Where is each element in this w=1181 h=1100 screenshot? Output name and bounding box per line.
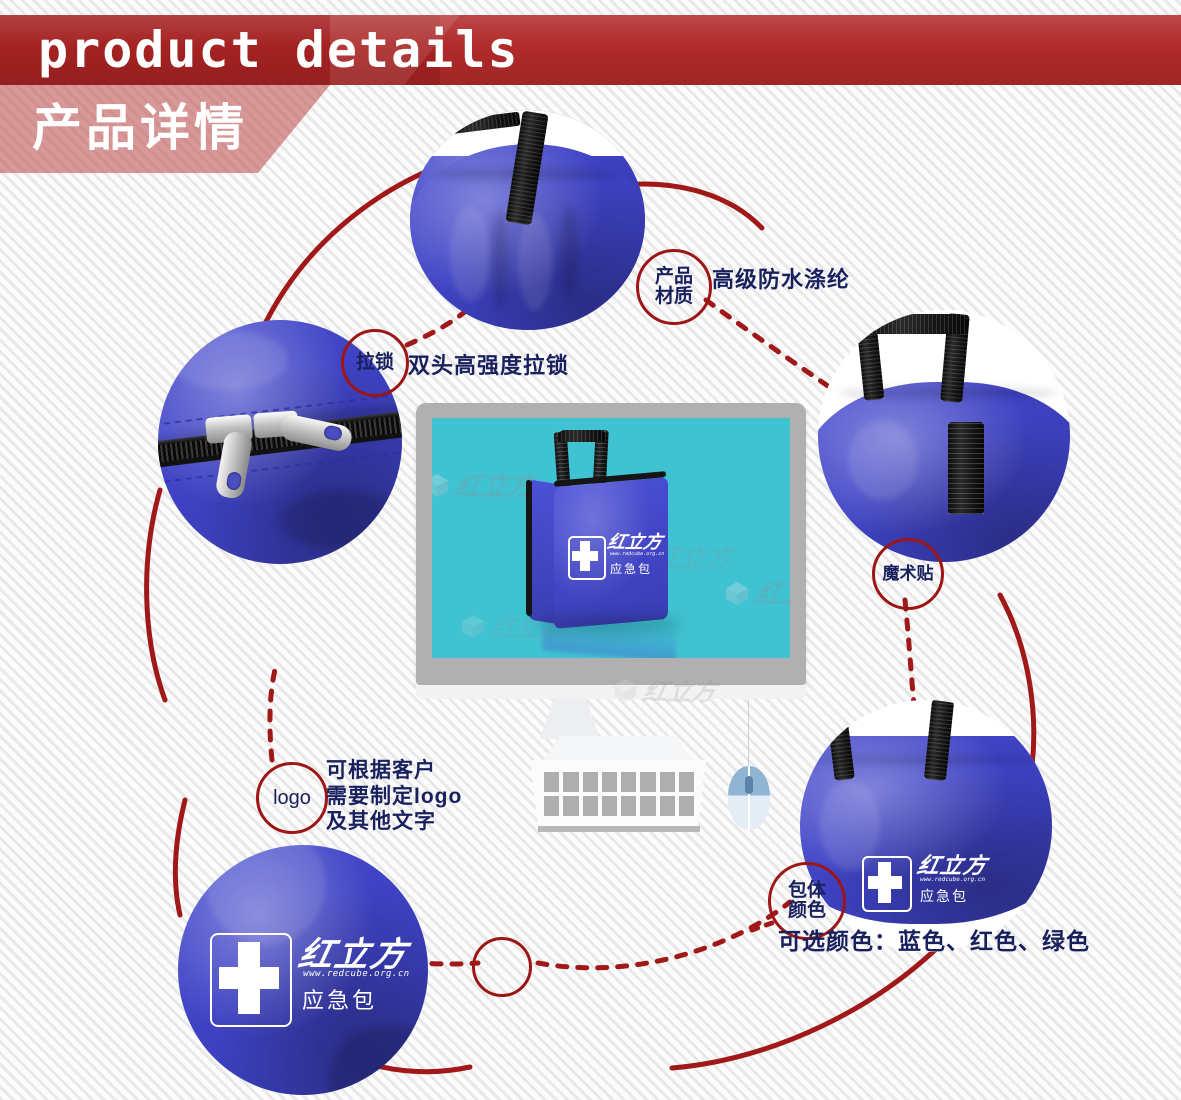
key xyxy=(621,796,636,816)
callout-text-logo-line1: 可根据客户 xyxy=(326,758,462,784)
brand-product-name: 应急包 xyxy=(302,983,377,1015)
mouse-scroll-wheel[interactable] xyxy=(745,776,753,794)
key xyxy=(621,772,636,792)
cube-logo-icon xyxy=(460,613,486,639)
key xyxy=(602,796,617,816)
key xyxy=(563,796,578,816)
photo-velcro-detail xyxy=(818,310,1070,562)
key xyxy=(660,796,675,816)
callout-ring-material[interactable]: 产品 材质 xyxy=(636,249,712,325)
callout-ring-logo[interactable]: logo xyxy=(256,762,328,834)
product-bag-zipper xyxy=(526,480,532,617)
key xyxy=(544,772,559,792)
monitor-screen: 红立方 红立方 红立方 红立方 xyxy=(432,418,790,658)
page-title-en: product details xyxy=(38,20,520,80)
handle-top-bar xyxy=(864,314,968,334)
key xyxy=(583,772,598,792)
callout-text-zipper: 双头高强度拉锁 xyxy=(408,348,569,380)
decorative-ring xyxy=(472,937,532,997)
callout-ring-logo-label: logo xyxy=(273,788,311,809)
velcro-strip xyxy=(948,422,984,514)
photo-logo-detail: 红立方 www.redcube.org.cn 应急包 xyxy=(178,845,428,1095)
product-brand-sub: 应急包 xyxy=(610,560,652,577)
watermark-screen-3: 红立方 xyxy=(724,574,790,611)
callout-text-logo: 可根据客户 需要制定logo 及其他文字 xyxy=(326,758,462,835)
key xyxy=(660,772,675,792)
page-background: product details 产品详情 xyxy=(0,0,1181,1100)
callout-ring-zipper-label: 拉锁 xyxy=(356,353,394,373)
callout-ring-body-color-line2: 颜色 xyxy=(788,901,826,921)
callout-text-material: 高级防水涤纶 xyxy=(712,262,850,294)
brand-url: www.redcube.org.cn xyxy=(302,969,410,979)
cube-logo-icon xyxy=(432,472,450,498)
brand-product-name-small: 应急包 xyxy=(920,886,968,906)
callout-ring-body-color-line1: 包体 xyxy=(788,881,826,901)
watermark-text: 红立方 xyxy=(752,574,790,611)
key xyxy=(679,796,694,816)
callout-ring-velcro[interactable]: 魔术贴 xyxy=(872,538,944,610)
product-brand-url: www.redcube.org.cn xyxy=(609,551,664,557)
key xyxy=(563,772,578,792)
callout-ring-zipper[interactable]: 拉锁 xyxy=(341,329,409,397)
monitor-neck xyxy=(540,699,600,739)
page-title-cn: 产品详情 xyxy=(32,92,248,164)
key xyxy=(679,772,694,792)
callout-ring-velcro-label: 魔术贴 xyxy=(883,565,934,583)
brand-url-small: www.redcube.org.cn xyxy=(919,876,985,883)
product-handle-arc xyxy=(557,430,607,442)
key xyxy=(640,796,655,816)
key xyxy=(583,796,598,816)
keyboard-keys xyxy=(544,772,694,816)
keyboard-riser xyxy=(542,736,694,762)
product-bag-image: 红立方 www.redcube.org.cn 应急包 xyxy=(502,424,732,654)
monitor-base xyxy=(416,685,806,699)
callout-text-logo-line2: 需要制定logo xyxy=(326,784,462,810)
callout-text-logo-line3: 及其他文字 xyxy=(326,809,462,835)
key xyxy=(544,796,559,816)
keyboard-foot xyxy=(538,826,700,832)
key xyxy=(602,772,617,792)
key xyxy=(640,772,655,792)
callout-text-body-color: 可选颜色：蓝色、红色、绿色 xyxy=(778,922,1090,956)
mouse-cord xyxy=(748,700,749,766)
callout-ring-material-line2: 材质 xyxy=(655,287,693,307)
photo-top-handle-detail xyxy=(410,110,645,330)
callout-ring-material-line1: 产品 xyxy=(655,267,693,287)
